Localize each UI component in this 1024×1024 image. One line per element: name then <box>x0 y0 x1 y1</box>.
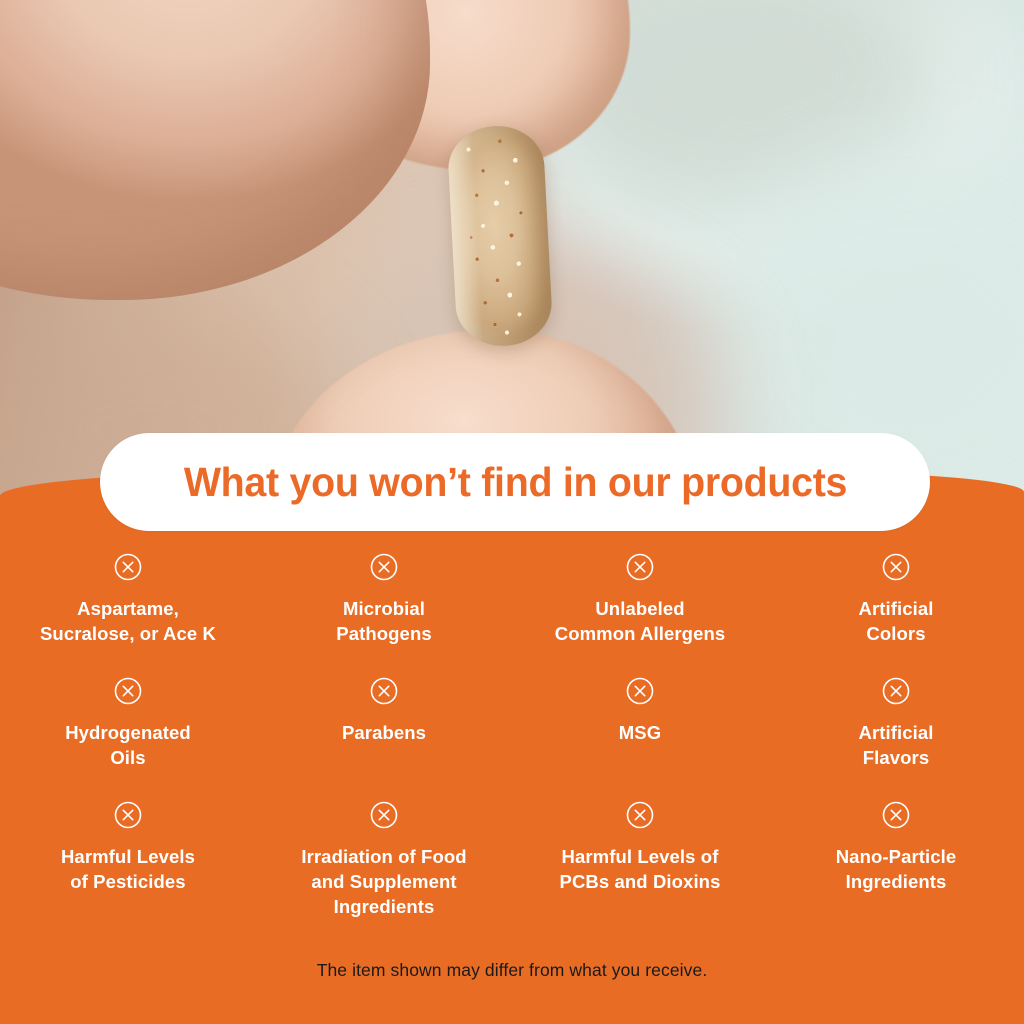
exclusion-label: Harmful Levels of Pesticides <box>61 844 195 894</box>
circle-x-icon <box>625 552 655 582</box>
circle-x-icon <box>113 552 143 582</box>
circle-x-icon <box>113 800 143 830</box>
exclusion-item: Harmful Levels of Pesticides <box>0 800 256 919</box>
title-emphasis: won’t <box>369 459 470 505</box>
exclusion-label: Nano-Particle Ingredients <box>836 844 957 894</box>
exclusion-label: Artificial Flavors <box>858 720 933 770</box>
row-spacer <box>0 770 1024 800</box>
exclusion-label: Hydrogenated Oils <box>65 720 191 770</box>
grid-row: Harmful Levels of Pesticides Irradiation… <box>0 800 1024 919</box>
product-photo <box>0 0 1024 500</box>
circle-x-icon <box>625 676 655 706</box>
exclusion-item: Unlabeled Common Allergens <box>512 552 768 646</box>
exclusion-label: Aspartame, Sucralose, or Ace K <box>40 596 216 646</box>
circle-x-icon <box>369 800 399 830</box>
exclusion-item: Aspartame, Sucralose, or Ace K <box>0 552 256 646</box>
thumb <box>0 0 430 300</box>
page-title: What you won’t find in our products <box>183 459 846 506</box>
exclusion-item: Artificial Colors <box>768 552 1024 646</box>
circle-x-icon <box>881 676 911 706</box>
exclusion-label: MSG <box>619 720 661 745</box>
exclusion-item: MSG <box>512 676 768 770</box>
circle-x-icon <box>881 552 911 582</box>
grid-row: Hydrogenated Oils Parabens MSG <box>0 676 1024 770</box>
exclusion-label: Irradiation of Food and Supplement Ingre… <box>301 844 466 919</box>
row-spacer <box>0 646 1024 676</box>
disclaimer-text: The item shown may differ from what you … <box>0 960 1024 981</box>
grid-row: Aspartame, Sucralose, or Ace K Microbial… <box>0 552 1024 646</box>
exclusion-item: Hydrogenated Oils <box>0 676 256 770</box>
title-pill: What you won’t find in our products <box>100 433 930 531</box>
exclusion-label: Microbial Pathogens <box>336 596 431 646</box>
exclusion-item: Harmful Levels of PCBs and Dioxins <box>512 800 768 919</box>
circle-x-icon <box>113 676 143 706</box>
circle-x-icon <box>881 800 911 830</box>
exclusion-label: Artificial Colors <box>858 596 933 646</box>
exclusion-label: Unlabeled Common Allergens <box>555 596 726 646</box>
exclusion-label: Parabens <box>342 720 426 745</box>
exclusions-grid: Aspartame, Sucralose, or Ace K Microbial… <box>0 552 1024 919</box>
circle-x-icon <box>625 800 655 830</box>
infographic-page: What you won’t find in our products Aspa… <box>0 0 1024 1024</box>
exclusion-item: Artificial Flavors <box>768 676 1024 770</box>
title-part-after: find in our products <box>470 459 847 505</box>
exclusion-item: Parabens <box>256 676 512 770</box>
circle-x-icon <box>369 552 399 582</box>
exclusion-label: Harmful Levels of PCBs and Dioxins <box>560 844 721 894</box>
circle-x-icon <box>369 676 399 706</box>
supplement-tablet <box>446 124 553 349</box>
exclusion-item: Nano-Particle Ingredients <box>768 800 1024 919</box>
exclusion-item: Irradiation of Food and Supplement Ingre… <box>256 800 512 919</box>
title-part-before: What you <box>183 459 368 505</box>
exclusion-item: Microbial Pathogens <box>256 552 512 646</box>
